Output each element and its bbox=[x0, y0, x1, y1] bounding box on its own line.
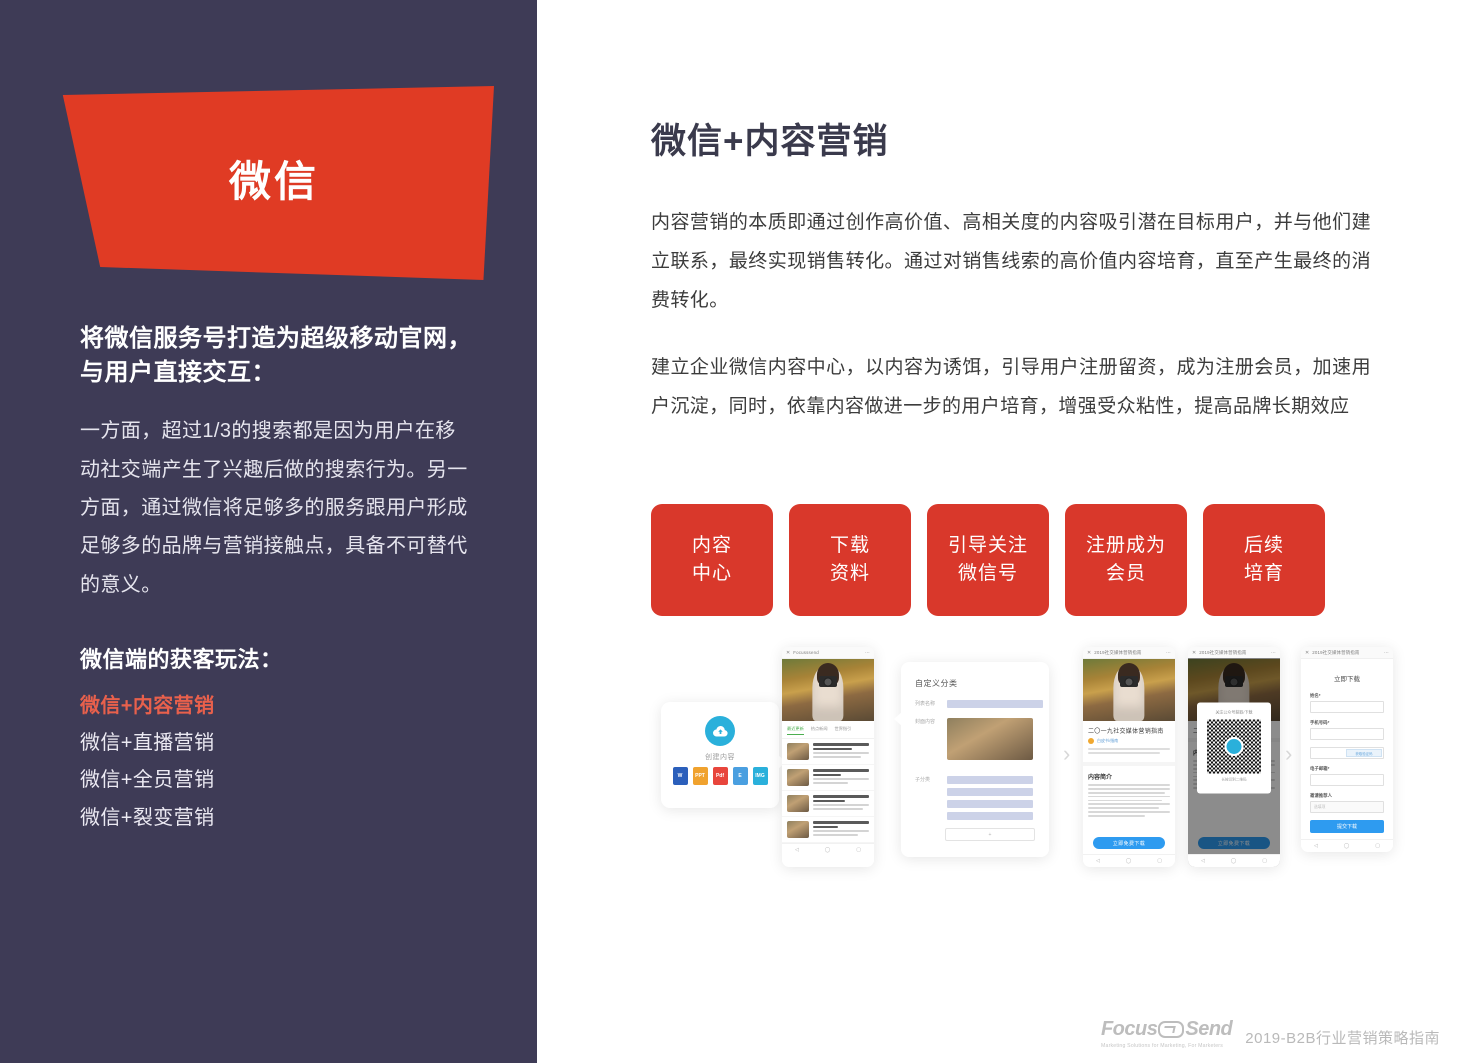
page-title: 微信+内容营销 bbox=[651, 0, 1371, 164]
phone-nav-bar: ◁ ◯ ▢ bbox=[1301, 839, 1393, 852]
flow-step-nurture[interactable]: 后续 培育 bbox=[1203, 504, 1325, 616]
custom-category-panel: 自定义分类 列表名称 封面内容 子分类 + bbox=[901, 662, 1049, 857]
banner-title: 微信 bbox=[54, 148, 494, 209]
flow-step-line2: 资料 bbox=[830, 560, 870, 589]
brand-logo: Focus Send Marketing Solutions for Marke… bbox=[1101, 1018, 1232, 1049]
logo-wordmark: Focus Send bbox=[1101, 1018, 1232, 1041]
form-label-referrer: 邀请推荐人 bbox=[1301, 793, 1393, 801]
create-content-card: 创建内容 W PPT Pdf E IMG bbox=[661, 702, 779, 808]
phone-article-list: ✕ Focusssend ⋯ 最近更新 热点新闻 世界指引 bbox=[782, 647, 874, 867]
form-title: 立即下载 bbox=[1301, 659, 1393, 693]
phone-status-bar: ✕ Focusssend ⋯ bbox=[782, 647, 874, 659]
close-icon[interactable]: ✕ bbox=[1087, 650, 1091, 656]
excel-icon: E bbox=[733, 767, 748, 785]
flow-step-line1: 引导关注 bbox=[948, 532, 1028, 561]
article-body bbox=[1083, 784, 1175, 817]
sidebar-content: 将微信服务号打造为超级移动官网，与用户直接交互： 一方面，超过1/3的搜索都是因… bbox=[80, 322, 476, 837]
footer-caption: 2019-B2B行业营销策略指南 bbox=[1245, 1027, 1440, 1049]
subcategory-row[interactable] bbox=[947, 776, 1033, 784]
phone-title: Focusssend bbox=[793, 650, 819, 655]
article-lines bbox=[813, 769, 869, 786]
phone-nav-bar: ◁ ◯ ▢ bbox=[1188, 854, 1280, 867]
form-input-referrer[interactable]: 选填项 bbox=[1310, 801, 1384, 813]
article-lines bbox=[813, 743, 869, 760]
tab-hotnews[interactable]: 热点新闻 bbox=[811, 726, 828, 735]
hero-photo bbox=[782, 659, 874, 721]
field-label-cover: 封面内容 bbox=[915, 718, 941, 725]
nav-recents-icon[interactable]: ▢ bbox=[856, 847, 861, 853]
pdf-icon: Pdf bbox=[713, 767, 728, 785]
main-text-block: 微信+内容营销 内容营销的本质即通过创作高价值、高相关度的内容吸引潜在目标用户，… bbox=[651, 0, 1371, 427]
main-paragraph-2: 建立企业微信内容中心，以内容为诱饵，引导用户注册留资，成为注册会员，加速用户沉淀… bbox=[651, 349, 1371, 427]
sidebar-heading: 将微信服务号打造为超级移动官网，与用户直接交互： bbox=[80, 322, 476, 390]
field-label-subcategory: 子分类 bbox=[915, 776, 941, 783]
list-item[interactable] bbox=[782, 765, 874, 791]
form-input-referrer-placeholder: 选填项 bbox=[1311, 802, 1383, 810]
footer: Focus Send Marketing Solutions for Marke… bbox=[1101, 1018, 1440, 1049]
more-icon[interactable]: ⋯ bbox=[865, 650, 870, 656]
qr-footer-text: 长按识别二维码 bbox=[1221, 778, 1246, 783]
article-thumbnail bbox=[787, 795, 809, 812]
image-icon: IMG bbox=[753, 767, 768, 785]
create-content-label: 创建内容 bbox=[661, 752, 779, 762]
close-icon[interactable]: ✕ bbox=[1305, 650, 1309, 656]
nav-home-icon[interactable]: ◯ bbox=[1344, 843, 1350, 849]
close-icon[interactable]: ✕ bbox=[1192, 650, 1196, 656]
logo-primary-text: Focus bbox=[1101, 1018, 1157, 1041]
nav-home-icon[interactable]: ◯ bbox=[825, 847, 831, 853]
field-input-list-name[interactable] bbox=[947, 700, 1043, 708]
playbook-list: 微信+内容营销 微信+直播营销 微信+全员营销 微信+裂变营销 bbox=[80, 688, 476, 837]
phone-nav-bar: ◁ ◯ ▢ bbox=[782, 843, 874, 856]
phone-article-detail: ✕ 2019社交媒体营销指南 ⋯ 二〇一九社交媒体营销指南 白皮书/指南 内容简… bbox=[1083, 647, 1175, 867]
funnel-flow: 内容 中心 下载 资料 引导关注 微信号 注册成为 会员 后续 培育 bbox=[651, 504, 1341, 616]
hero-photo bbox=[1083, 659, 1175, 721]
subcategory-row[interactable] bbox=[947, 800, 1033, 808]
close-icon[interactable]: ✕ bbox=[786, 650, 790, 656]
list-item[interactable] bbox=[782, 791, 874, 817]
qr-code-icon bbox=[1207, 720, 1261, 774]
flow-step-content-center[interactable]: 内容 中心 bbox=[651, 504, 773, 616]
content-tabs: 最近更新 热点新闻 世界指引 bbox=[782, 721, 874, 739]
nav-back-icon[interactable]: ◁ bbox=[795, 847, 799, 853]
flow-step-download[interactable]: 下载 资料 bbox=[789, 504, 911, 616]
phone-status-bar: ✕ 2019社交媒体营销指南 ⋯ bbox=[1301, 647, 1393, 659]
flow-step-line1: 后续 bbox=[1244, 532, 1284, 561]
flow-step-line2: 会员 bbox=[1106, 560, 1146, 589]
flow-step-line1: 注册成为 bbox=[1086, 532, 1166, 561]
list-item[interactable] bbox=[782, 817, 874, 843]
more-icon[interactable]: ⋯ bbox=[1271, 650, 1276, 656]
form-label-name: 姓名* bbox=[1301, 693, 1393, 701]
cloud-upload-icon bbox=[705, 716, 735, 746]
phone-status-bar: ✕ 2019社交媒体营销指南 ⋯ bbox=[1083, 647, 1175, 659]
field-cover-image[interactable] bbox=[947, 718, 1033, 760]
article-thumbnail bbox=[787, 769, 809, 786]
envelope-arrow-icon bbox=[1158, 1021, 1184, 1038]
tab-guides[interactable]: 世界指引 bbox=[835, 726, 852, 735]
ppt-icon: PPT bbox=[693, 767, 708, 785]
phone-title: 2019社交媒体营销指南 bbox=[1094, 650, 1141, 656]
article-lines bbox=[813, 821, 869, 838]
subcategory-row[interactable] bbox=[947, 812, 1033, 820]
form-input-phone[interactable] bbox=[1310, 728, 1384, 740]
playbook-item-live-marketing[interactable]: 微信+直播营销 bbox=[80, 725, 476, 762]
flow-step-follow-wechat[interactable]: 引导关注 微信号 bbox=[927, 504, 1049, 616]
nav-recents-icon[interactable]: ▢ bbox=[1157, 858, 1162, 864]
tab-latest[interactable]: 最近更新 bbox=[787, 726, 804, 735]
phone-qr-overlay: ✕ 2019社交媒体营销指南 ⋯ 二〇一九社交媒体营销指南 内容简介 立即免费下… bbox=[1188, 647, 1280, 867]
flow-step-register-member[interactable]: 注册成为 会员 bbox=[1065, 504, 1187, 616]
article-thumbnail bbox=[787, 821, 809, 838]
section-heading: 内容简介 bbox=[1083, 762, 1175, 784]
word-icon: W bbox=[673, 767, 688, 785]
panel-title: 自定义分类 bbox=[915, 678, 958, 689]
flow-step-line1: 内容 bbox=[692, 532, 732, 561]
subcategory-row[interactable] bbox=[947, 788, 1033, 796]
article-tag: 白皮书/指南 bbox=[1083, 738, 1175, 748]
flow-step-line2: 中心 bbox=[692, 560, 732, 589]
field-label-list-name: 列表名称 bbox=[915, 700, 941, 707]
logo-secondary-text: Send bbox=[1185, 1018, 1232, 1041]
sidebar: 微信 将微信服务号打造为超级移动官网，与用户直接交互： 一方面，超过1/3的搜索… bbox=[0, 0, 537, 1063]
logo-tagline: Marketing Solutions for Marketing, For M… bbox=[1101, 1043, 1223, 1049]
more-icon[interactable]: ⋯ bbox=[1166, 650, 1171, 656]
mockup-strip: 创建内容 W PPT Pdf E IMG ✕ Focusssend ⋯ bbox=[651, 637, 1351, 877]
phone-nav-bar: ◁ ◯ ▢ bbox=[1083, 854, 1175, 867]
form-input-verification-code[interactable]: 获取验证码 bbox=[1310, 747, 1384, 759]
article-summary bbox=[1083, 748, 1175, 762]
nav-back-icon[interactable]: ◁ bbox=[1096, 858, 1100, 864]
flow-step-line2: 培育 bbox=[1244, 560, 1284, 589]
chevron-right-icon: › bbox=[1063, 743, 1070, 765]
chapter-banner: 微信 bbox=[54, 86, 494, 286]
article-lines bbox=[813, 795, 869, 812]
tag-label: 白皮书/指南 bbox=[1097, 738, 1118, 744]
qr-modal: 关注公众号获取/下载 长按识别二维码 bbox=[1197, 703, 1271, 794]
phone-title: 2019社交媒体营销指南 bbox=[1199, 650, 1246, 656]
form-label-phone: 手机号码* bbox=[1301, 720, 1393, 728]
main-paragraph-1: 内容营销的本质即通过创作高价值、高相关度的内容吸引潜在目标用户，并与他们建立联系… bbox=[651, 204, 1371, 321]
nav-recents-icon[interactable]: ▢ bbox=[1375, 843, 1380, 849]
article-thumbnail bbox=[787, 743, 809, 760]
file-type-icons: W PPT Pdf E IMG bbox=[661, 767, 779, 785]
nav-home-icon[interactable]: ◯ bbox=[1126, 858, 1132, 864]
tag-badge-icon bbox=[1088, 738, 1094, 744]
sidebar-paragraph: 一方面，超过1/3的搜索都是因为用户在移动社交端产生了兴趣后做的搜索行为。另一方… bbox=[80, 412, 476, 604]
flow-step-line2: 微信号 bbox=[958, 560, 1018, 589]
form-input-email[interactable] bbox=[1310, 774, 1384, 786]
more-icon[interactable]: ⋯ bbox=[1384, 650, 1389, 656]
add-subcategory-button[interactable]: + bbox=[945, 828, 1035, 841]
phone-title: 2019社交媒体营销指南 bbox=[1312, 650, 1359, 656]
get-code-button[interactable]: 获取验证码 bbox=[1346, 749, 1382, 757]
playbook-item-content-marketing[interactable]: 微信+内容营销 bbox=[80, 688, 476, 725]
photo-camera bbox=[1120, 676, 1138, 687]
chevron-right-icon: › bbox=[1285, 743, 1292, 765]
slide-page: 微信 将微信服务号打造为超级移动官网，与用户直接交互： 一方面，超过1/3的搜索… bbox=[0, 0, 1476, 1063]
article-title: 二〇一九社交媒体营销指南 bbox=[1083, 721, 1175, 738]
nav-back-icon[interactable]: ◁ bbox=[1201, 858, 1205, 864]
download-cta-button[interactable]: 立即免费下载 bbox=[1093, 837, 1165, 849]
playbook-item-allstaff-marketing[interactable]: 微信+全员营销 bbox=[80, 762, 476, 799]
photo-camera bbox=[819, 676, 837, 687]
nav-back-icon[interactable]: ◁ bbox=[1314, 843, 1318, 849]
form-input-name[interactable] bbox=[1310, 701, 1384, 713]
nav-recents-icon[interactable]: ▢ bbox=[1262, 858, 1267, 864]
qr-caption: 关注公众号获取/下载 bbox=[1215, 710, 1252, 716]
sidebar-list-heading: 微信端的获客玩法： bbox=[80, 642, 476, 674]
phone-registration-form: ✕ 2019社交媒体营销指南 ⋯ 立即下载 姓名* 手机号码* 获取验证码 电子… bbox=[1301, 647, 1393, 852]
flow-step-line1: 下载 bbox=[830, 532, 870, 561]
nav-home-icon[interactable]: ◯ bbox=[1231, 858, 1237, 864]
list-item[interactable] bbox=[782, 739, 874, 765]
playbook-item-fission-marketing[interactable]: 微信+裂变营销 bbox=[80, 800, 476, 837]
form-label-email: 电子邮箱* bbox=[1301, 766, 1393, 774]
submit-download-button[interactable]: 提交下载 bbox=[1310, 820, 1384, 833]
